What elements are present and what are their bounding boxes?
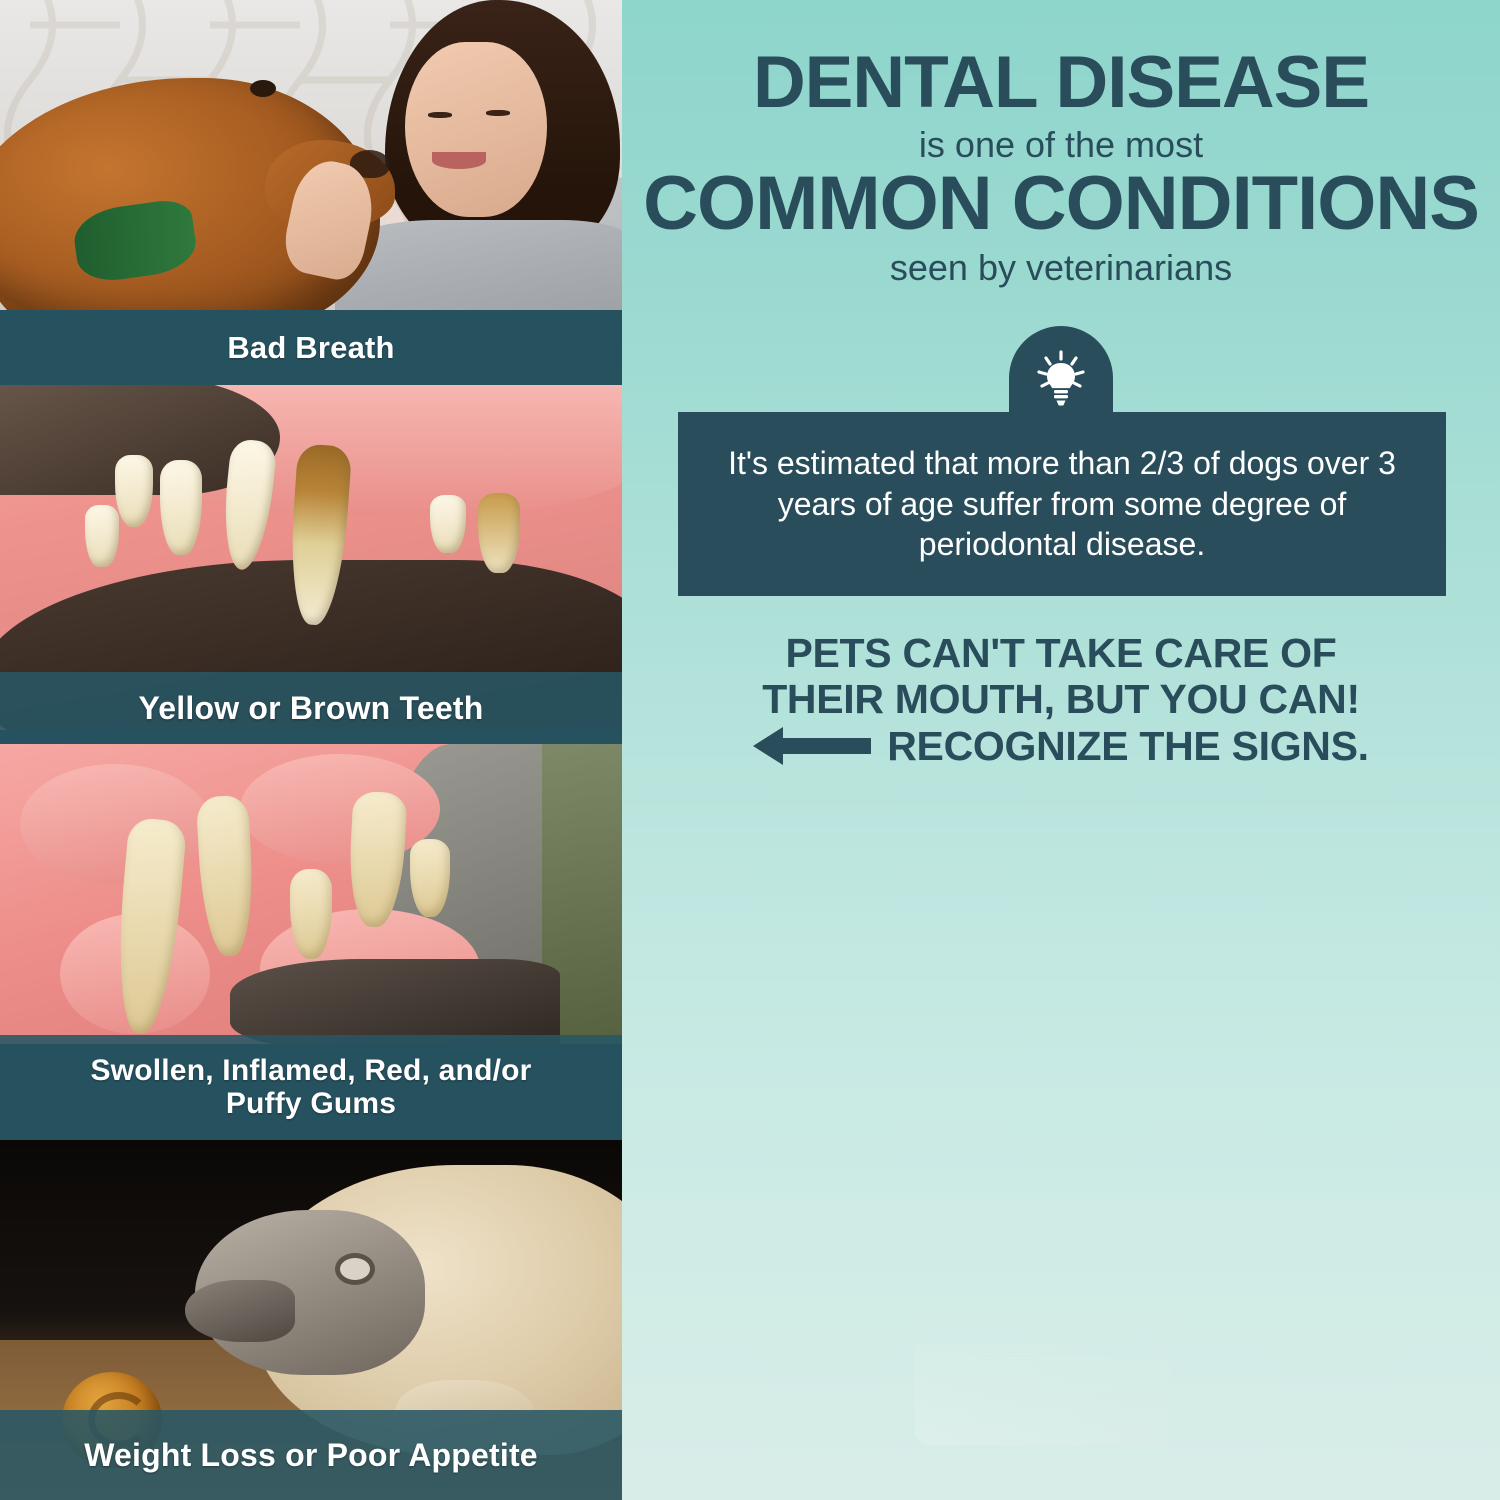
- dog-tooth: [160, 460, 202, 555]
- headline-line-1: DENTAL DISEASE: [622, 48, 1500, 118]
- woman-face: [405, 42, 547, 217]
- headline-line-2: is one of the most: [622, 124, 1500, 166]
- dog-snout: [185, 1280, 295, 1342]
- arrow-left-icon: [753, 724, 871, 768]
- symptom-panel-bad-breath: [0, 0, 622, 310]
- dog-lip: [230, 959, 560, 1044]
- symptom-photo-column: Bad Breath Yellow or Brown Teeth: [0, 0, 622, 1500]
- woman-petting-golden-retriever-photo: [0, 0, 622, 310]
- cta-line-1: PETS CAN'T TAKE CARE OF: [622, 630, 1500, 676]
- headline-line-4: seen by veterinarians: [622, 247, 1500, 289]
- symptom-caption-swollen-gums: Swollen, Inflamed, Red, and/or Puffy Gum…: [0, 1035, 622, 1140]
- lightbulb-icon: [1029, 346, 1093, 410]
- caption-text: Weight Loss or Poor Appetite: [84, 1438, 538, 1473]
- caption-text-line2: Puffy Gums: [226, 1088, 396, 1120]
- fact-callout-box: It's estimated that more than 2/3 of dog…: [678, 412, 1446, 596]
- woman-eye-right: [486, 110, 510, 116]
- infographic-root: Bad Breath Yellow or Brown Teeth: [0, 0, 1500, 1500]
- fact-text: It's estimated that more than 2/3 of dog…: [678, 443, 1446, 566]
- symptom-caption-yellow-brown-teeth: Yellow or Brown Teeth: [0, 672, 622, 744]
- caption-text: Yellow or Brown Teeth: [139, 691, 484, 726]
- dog-eye: [250, 80, 276, 97]
- woman-eye-left: [428, 112, 452, 118]
- symptom-caption-weight-loss: Weight Loss or Poor Appetite: [0, 1410, 622, 1500]
- dog-tooth: [478, 493, 520, 573]
- woman-smile: [432, 152, 486, 169]
- content-column: DENTAL DISEASE is one of the most COMMON…: [622, 0, 1500, 1500]
- caption-text-line1: Swollen, Inflamed, Red, and/or: [90, 1055, 531, 1087]
- cta-block: PETS CAN'T TAKE CARE OF THEIR MOUTH, BUT…: [622, 630, 1500, 769]
- caption-text: Bad Breath: [227, 331, 394, 364]
- dog-tooth: [430, 495, 466, 553]
- dog-inflamed-gums-closeup-photo: [0, 744, 622, 1044]
- symptom-panel-swollen-gums: [0, 744, 622, 1044]
- cta-line-2: THEIR MOUTH, BUT YOU CAN!: [622, 676, 1500, 722]
- headline-line-3: COMMON CONDITIONS: [622, 168, 1500, 241]
- dog-tooth: [85, 505, 119, 567]
- dog-eye: [340, 1258, 370, 1280]
- symptom-caption-bad-breath: Bad Breath: [0, 310, 622, 385]
- headline-block: DENTAL DISEASE is one of the most COMMON…: [622, 48, 1500, 289]
- cta-line-3: RECOGNIZE THE SIGNS.: [887, 723, 1369, 769]
- swollen-gum: [240, 754, 440, 864]
- cta-line-3-row: RECOGNIZE THE SIGNS.: [622, 723, 1500, 769]
